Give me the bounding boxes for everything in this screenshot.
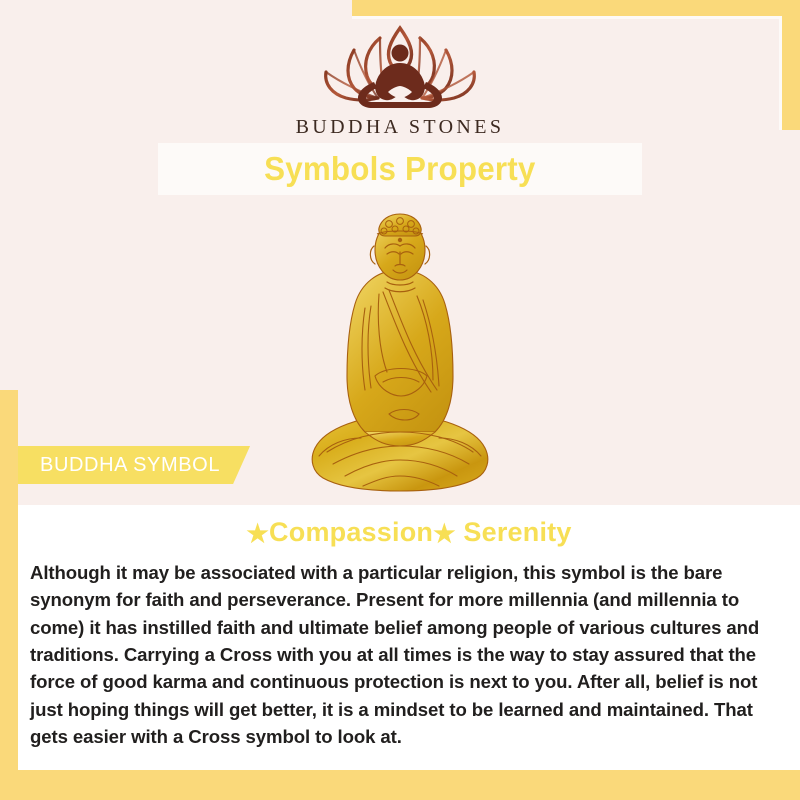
brand-wordmark: BUDDHA STONES [0, 116, 800, 139]
title-band: Symbols Property [158, 143, 642, 195]
poster-canvas: BUDDHA STONES Symbols Property [0, 0, 800, 800]
section-subtitle: ★Compassion★ Serenity [18, 505, 800, 549]
top-right-frame-horizontal [352, 0, 800, 16]
section-body-text: Although it may be associated with a par… [18, 549, 800, 750]
brand-logo-block: BUDDHA STONES [0, 22, 800, 139]
badge-label: BUDDHA SYMBOL [40, 454, 220, 477]
top-right-frame-inner-line [352, 16, 782, 19]
subtitle-word-compassion: Compassion [269, 517, 433, 547]
star-icon-1: ★ [246, 520, 269, 548]
seated-buddha-statue-icon [305, 200, 495, 500]
lotus-meditation-figure-icon [310, 22, 490, 114]
content-panel: ★Compassion★ Serenity Although it may be… [18, 505, 800, 770]
star-icon-2: ★ [433, 520, 456, 548]
bottom-left-frame-horizontal [0, 770, 800, 800]
subtitle-word-serenity: Serenity [456, 517, 572, 547]
page-title: Symbols Property [264, 150, 535, 188]
badge-buddha-symbol: BUDDHA SYMBOL [18, 446, 250, 484]
